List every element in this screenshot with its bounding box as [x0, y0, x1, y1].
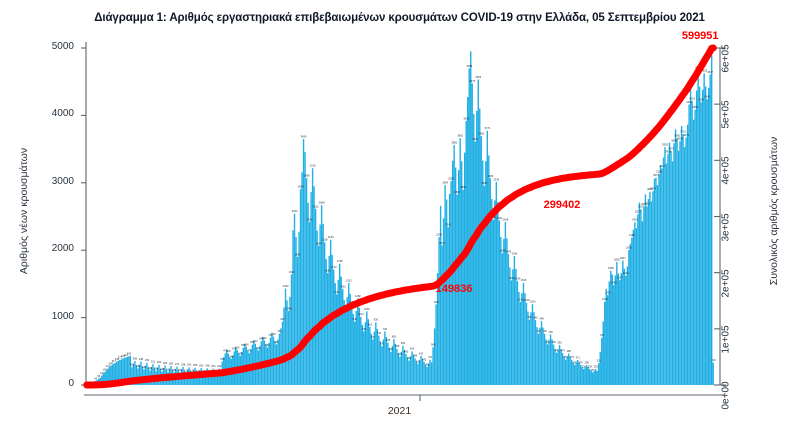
covid-cases-chart: Διάγραμμα 1: Αριθμός εργαστηριακά επιβεβ… — [0, 0, 799, 427]
cumulative-annotation-599951: 599951 — [682, 30, 719, 42]
cumulative-annotation-149836: 149836 — [436, 283, 473, 295]
cumulative-annotations: 149836299402599951 — [0, 0, 799, 427]
cumulative-annotation-299402: 299402 — [544, 199, 581, 211]
